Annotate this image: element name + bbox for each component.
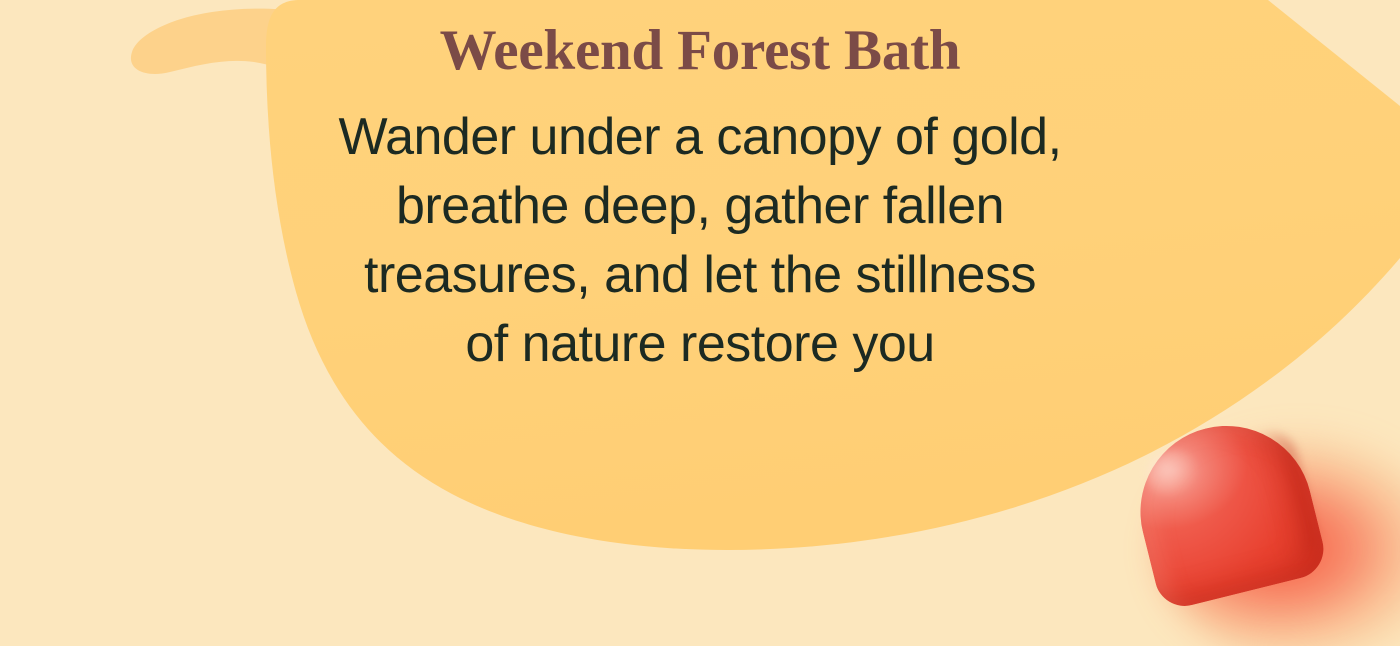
promo-banner: Weekend Forest Bath Wander under a canop… (0, 0, 1400, 646)
description-line-3: treasures, and let the stillness (0, 241, 1400, 310)
page-title: Weekend Forest Bath (0, 22, 1400, 79)
red-dome-gummy (1118, 404, 1400, 646)
banner-description: Wander under a canopy of gold, breathe d… (0, 103, 1400, 379)
description-line-4: of nature restore you (0, 310, 1400, 379)
banner-copy: Weekend Forest Bath Wander under a canop… (0, 0, 1400, 379)
description-line-1: Wander under a canopy of gold, (0, 103, 1400, 172)
description-line-2: breathe deep, gather fallen (0, 172, 1400, 241)
